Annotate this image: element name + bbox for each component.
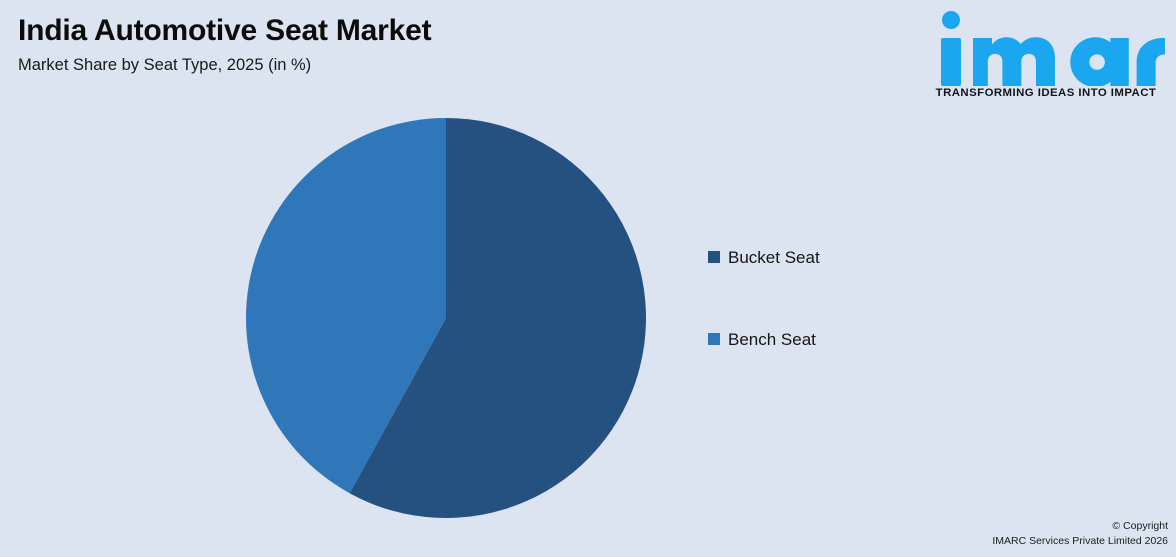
chart-subtitle: Market Share by Seat Type, 2025 (in %) (18, 56, 718, 74)
legend-label-bucket-seat: Bucket Seat (728, 249, 820, 266)
pie-chart (246, 118, 646, 518)
copyright-line-2: IMARC Services Private Limited 2026 (992, 534, 1168, 549)
legend-label-bench-seat: Bench Seat (728, 331, 816, 348)
chart-canvas: India Automotive Seat Market Market Shar… (0, 0, 1176, 557)
imarc-logo: TRANSFORMING IDEAS INTO IMPACT (922, 8, 1170, 99)
legend-item-bucket-seat[interactable]: Bucket Seat (708, 243, 938, 271)
copyright-notice: © Copyright IMARC Services Private Limit… (992, 519, 1168, 549)
pie-chart-svg (246, 118, 646, 518)
chart-header: India Automotive Seat Market Market Shar… (18, 14, 718, 74)
legend-swatch-bench-seat (708, 333, 720, 345)
copyright-line-1: © Copyright (992, 519, 1168, 534)
legend-swatch-bucket-seat (708, 251, 720, 263)
legend-item-bench-seat[interactable]: Bench Seat (708, 325, 938, 353)
imarc-wordmark-icon (927, 8, 1165, 86)
chart-legend: Bucket Seat Bench Seat (708, 243, 938, 353)
page-title: India Automotive Seat Market (18, 14, 718, 47)
logo-tagline: TRANSFORMING IDEAS INTO IMPACT (922, 87, 1170, 99)
